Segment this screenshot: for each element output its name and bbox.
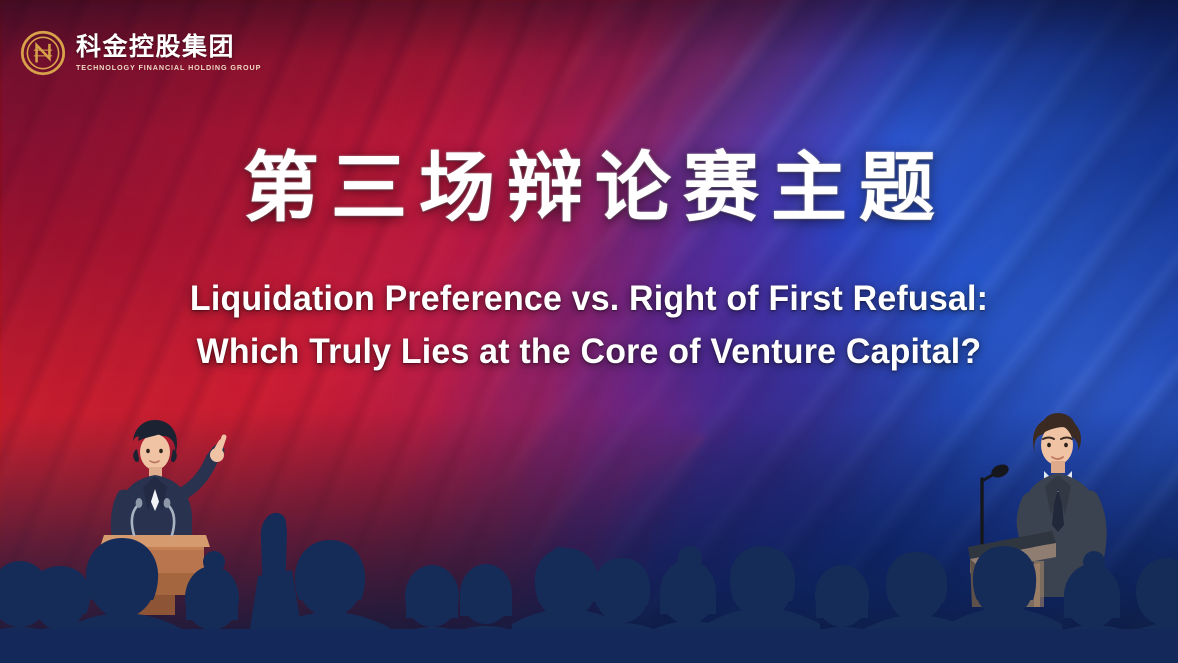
bottom-navy-band <box>0 629 1178 663</box>
company-logo: 科金控股集团 TECHNOLOGY FINANCIAL HOLDING GROU… <box>20 30 261 76</box>
subtitle-line-1: Liquidation Preference vs. Right of Firs… <box>18 272 1161 325</box>
circular-monogram-emblem-icon <box>20 30 66 76</box>
slide-canvas: 科金控股集团 TECHNOLOGY FINANCIAL HOLDING GROU… <box>0 0 1178 663</box>
slide-title-chinese: 第三场辩论赛主题 <box>0 148 1178 230</box>
logo-wordmark: 科金控股集团 TECHNOLOGY FINANCIAL HOLDING GROU… <box>76 34 261 72</box>
logo-company-name-en: TECHNOLOGY FINANCIAL HOLDING GROUP <box>76 63 261 72</box>
subtitle-line-2: Which Truly Lies at the Core of Venture … <box>18 325 1161 378</box>
logo-company-name-cn: 科金控股集团 <box>76 34 261 61</box>
subtitle-block: Liquidation Preference vs. Right of Firs… <box>0 272 1178 378</box>
headline-block: 第三场辩论赛主题 <box>0 148 1178 230</box>
